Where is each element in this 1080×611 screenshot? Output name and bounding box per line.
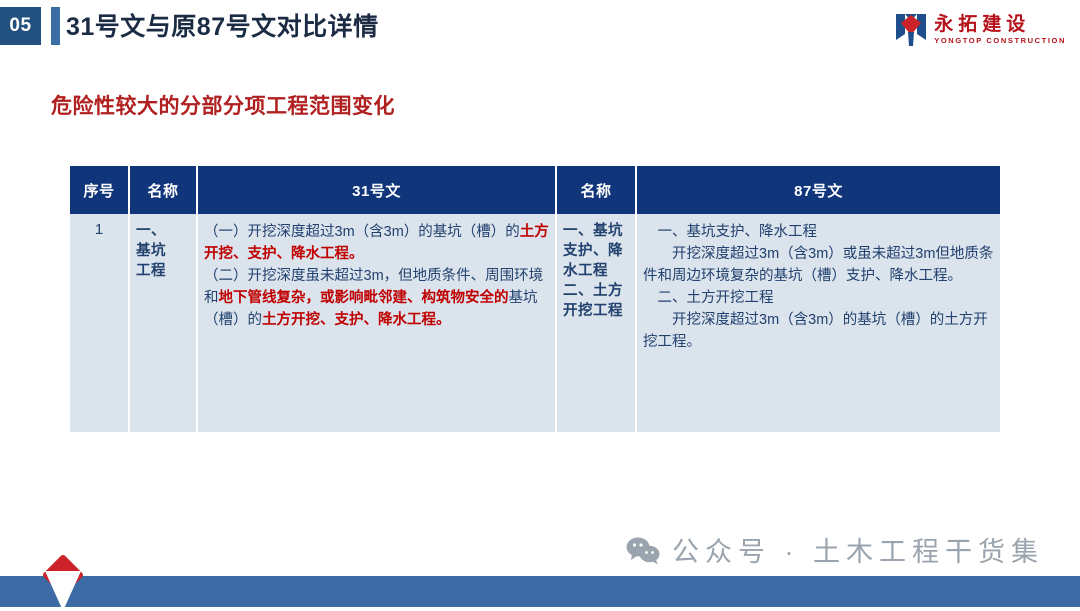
doc31-p1-prefix: （一）开挖深度超过3m（含3m）的基坑（槽）的 bbox=[204, 224, 520, 240]
col-header-index: 序号 bbox=[70, 166, 128, 214]
cell-row-index: 1 bbox=[70, 214, 128, 432]
footer-bar bbox=[0, 576, 1080, 607]
watermark-text: 公众号 · 土木工程干货集 bbox=[672, 530, 1044, 569]
page-title: 31号文与原87号文对比详情 bbox=[66, 8, 379, 46]
comparison-table: 序号 名称 31号文 名称 87号文 1 一、基坑工程 （一）开挖深度超过3m（… bbox=[68, 166, 1002, 432]
logo-name-cn: 永拓建设 bbox=[934, 14, 1066, 35]
wechat-icon bbox=[626, 536, 660, 564]
table-row: 1 一、基坑工程 （一）开挖深度超过3m（含3m）的基坑（槽）的土方开挖、支护、… bbox=[70, 214, 1000, 432]
section-number-badge: 05 bbox=[0, 7, 41, 45]
doc87-heading-2: 二、土方开挖工程 bbox=[643, 287, 994, 309]
cell-doc31-content: （一）开挖深度超过3m（含3m）的基坑（槽）的土方开挖、支护、降水工程。 （二）… bbox=[198, 214, 555, 432]
col-header-doc87: 87号文 bbox=[637, 166, 1000, 214]
doc87-heading-1: 一、基坑支护、降水工程 bbox=[643, 221, 994, 243]
page-header: 05 31号文与原87号文对比详情 永拓建设 YONGTOP CONSTRUCT… bbox=[0, 0, 1080, 62]
title-accent-bar bbox=[51, 7, 60, 45]
col-header-doc31: 31号文 bbox=[198, 166, 555, 214]
doc31-p2-highlight-2: 土方开挖、支护、降水工程。 bbox=[262, 312, 451, 328]
company-logo: 永拓建设 YONGTOP CONSTRUCTION bbox=[894, 8, 1066, 52]
wechat-watermark: 公众号 · 土木工程干货集 bbox=[626, 530, 1044, 569]
doc87-body-1: 开挖深度超过3m（含3m）或虽未超过3m但地质条件和周边环境复杂的基坑（槽）支护… bbox=[643, 243, 994, 287]
col-header-name-31: 名称 bbox=[130, 166, 196, 214]
table-header-row: 序号 名称 31号文 名称 87号文 bbox=[70, 166, 1000, 214]
cell-name-31: 一、基坑工程 bbox=[130, 214, 196, 432]
section-heading: 危险性较大的分部分项工程范围变化 bbox=[51, 90, 395, 120]
comparison-table-wrapper: 序号 名称 31号文 名称 87号文 1 一、基坑工程 （一）开挖深度超过3m（… bbox=[68, 166, 1002, 432]
col-header-name-87: 名称 bbox=[557, 166, 635, 214]
logo-text-block: 永拓建设 YONGTOP CONSTRUCTION bbox=[934, 14, 1066, 46]
doc31-p2-highlight-1: 地下管线复杂，或影响毗邻建、构筑物安全的 bbox=[219, 290, 509, 306]
yongtop-y-logo-icon bbox=[894, 12, 928, 48]
cell-name-87: 一、基坑支护、降水工程二、土方开挖工程 bbox=[557, 214, 635, 432]
logo-name-en: YONGTOP CONSTRUCTION bbox=[934, 35, 1066, 46]
cell-doc87-content: 一、基坑支护、降水工程 开挖深度超过3m（含3m）或虽未超过3m但地质条件和周边… bbox=[637, 214, 1000, 432]
doc87-body-2: 开挖深度超过3m（含3m）的基坑（槽）的土方开挖工程。 bbox=[643, 309, 994, 353]
